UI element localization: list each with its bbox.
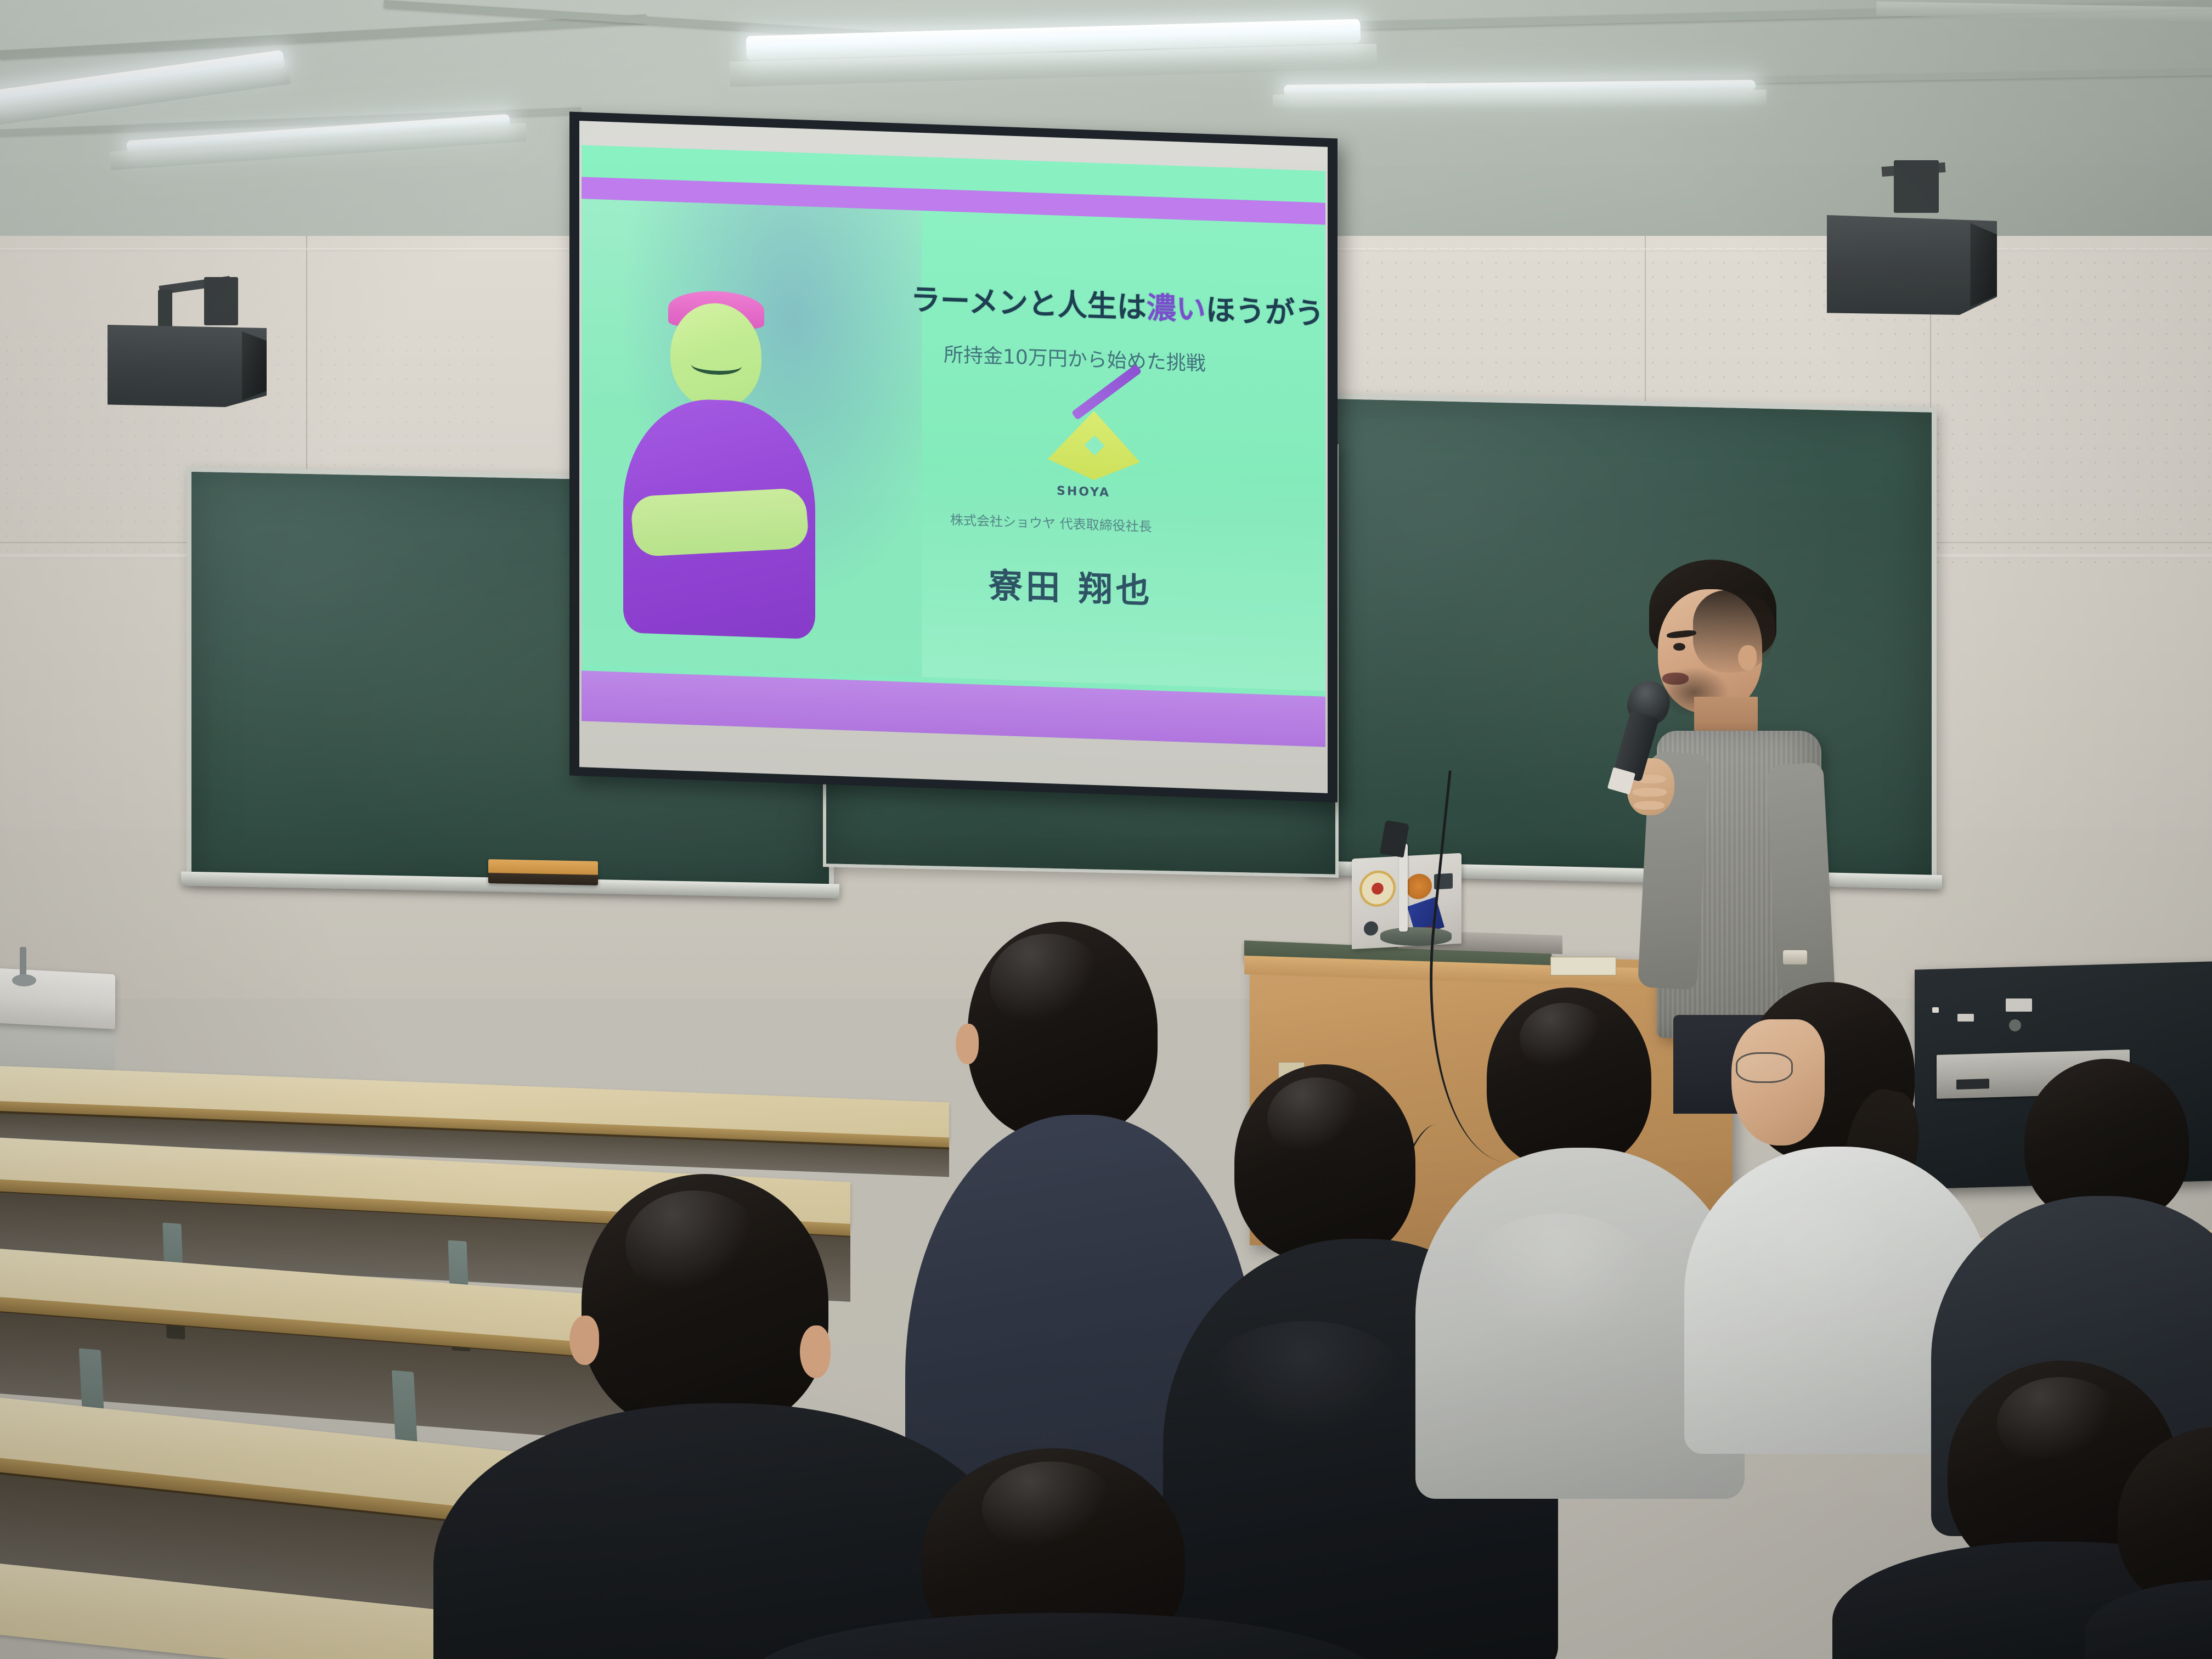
presenter-ear	[1738, 645, 1757, 670]
laptop-sticker-circle	[1364, 921, 1378, 936]
speaker-post-left	[158, 290, 172, 329]
student-ear	[569, 1316, 599, 1365]
lecture-hall-photo: ラーメンと人生は濃いほうがうまい 所持金10万円から始めた挑戦 SHOYA 株式…	[0, 0, 2212, 1659]
student-ear	[956, 1024, 979, 1064]
slide-title-tail: ほうがうまい	[1206, 292, 1325, 333]
student-face-profile	[1731, 1019, 1825, 1145]
student-ear	[800, 1325, 831, 1378]
presenter-eye	[1673, 643, 1685, 651]
hair-highlight	[1997, 1377, 2123, 1470]
faucet-handle	[12, 974, 36, 986]
hair-highlight	[990, 934, 1105, 1032]
audience-member	[2118, 1426, 2212, 1659]
audience-member	[801, 1448, 1295, 1659]
student-torso	[746, 1613, 1383, 1659]
student-head	[1234, 1064, 1415, 1262]
hair-highlight	[982, 1462, 1119, 1555]
speaker-bracket-right	[1894, 160, 1939, 213]
hair-highlight	[1520, 1003, 1607, 1074]
hair-highlight	[1267, 1077, 1366, 1160]
wall-speaker-right	[1827, 215, 1997, 315]
slide-title-highlight: 濃い	[1147, 290, 1206, 327]
chef-photo	[603, 266, 867, 659]
jacket-fold	[1207, 1321, 1404, 1436]
laptop-sticker-ring	[1359, 870, 1396, 907]
logo-wordmark: SHOYA	[1057, 484, 1110, 500]
faucet	[20, 947, 26, 978]
hoodie-fold	[1465, 1214, 1651, 1340]
sweatshirt-fold	[1728, 1207, 1904, 1328]
projected-slide: ラーメンと人生は濃いほうがうまい 所持金10万円から始めた挑戦 SHOYA 株式…	[582, 145, 1325, 747]
eyeglasses	[1736, 1052, 1793, 1083]
slide-title-plain: ラーメンと人生は	[911, 282, 1147, 325]
chalkboard-eraser	[488, 859, 598, 885]
slide-presenter-name: 寮田 翔也	[989, 557, 1153, 612]
slide-photo-panel	[582, 199, 922, 677]
presenter-wristwatch	[1783, 950, 1807, 964]
speaker-bracket-left	[204, 277, 238, 325]
student-head	[582, 1174, 828, 1432]
chef-crossed-arms	[630, 488, 810, 557]
slide-logo: SHOYA	[1037, 391, 1158, 516]
wall-speaker-left	[108, 325, 267, 407]
hair-highlight	[625, 1190, 763, 1300]
student-head	[968, 922, 1158, 1139]
projection-screen: ラーメンと人生は濃いほうがうまい 所持金10万円から始めた挑戦 SHOYA 株式…	[569, 112, 1338, 803]
student-head	[1487, 988, 1651, 1169]
laptop-sticker-orange	[1406, 873, 1432, 900]
presenter-hair-fade	[1693, 590, 1775, 673]
